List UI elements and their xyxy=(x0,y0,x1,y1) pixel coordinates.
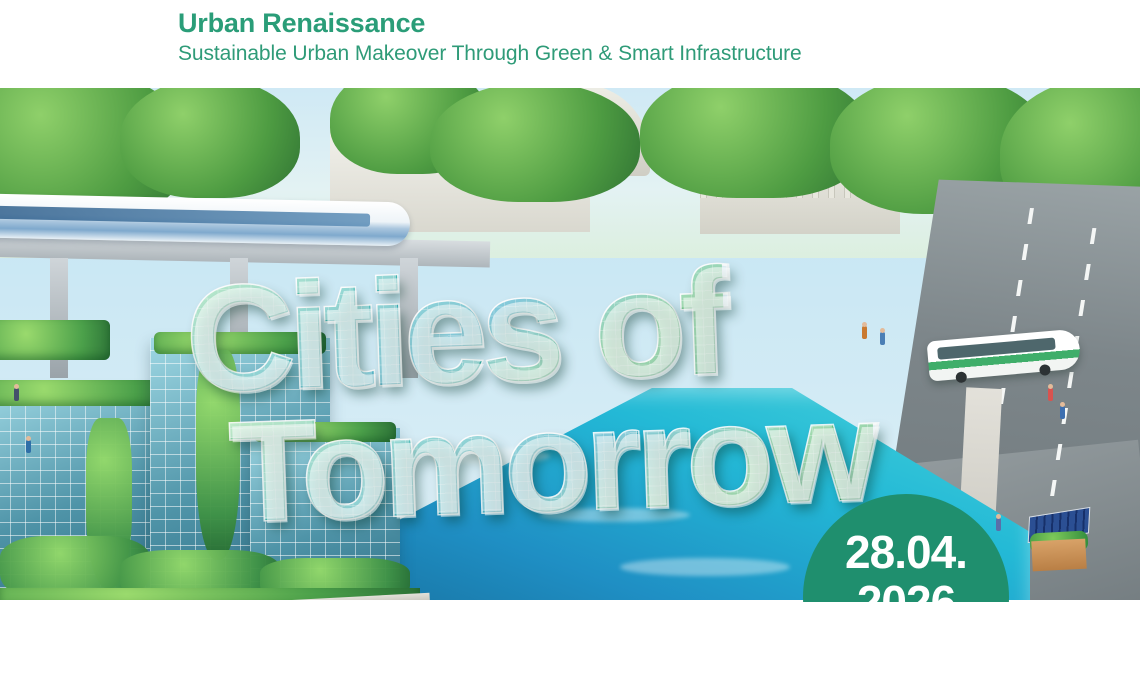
page-subtitle: Sustainable Urban Makeover Through Green… xyxy=(178,40,802,68)
hero-illustration: Cities of Cities of Tomorrow Tomorrow 28… xyxy=(0,88,1140,602)
poster-page: Urban Renaissance Sustainable Urban Make… xyxy=(0,0,1140,694)
date-year: 2026 xyxy=(857,577,955,602)
pedestrian xyxy=(862,326,867,339)
cargo-trike xyxy=(1031,539,1086,572)
header-band: Urban Renaissance Sustainable Urban Make… xyxy=(0,0,1140,88)
water-reflection xyxy=(430,448,550,464)
tree-cluster xyxy=(430,88,640,202)
cyclist xyxy=(14,388,19,401)
pedestrian xyxy=(1060,406,1065,419)
water-reflection xyxy=(540,508,690,522)
viaduct-pier xyxy=(400,258,418,378)
page-title: Urban Renaissance xyxy=(178,6,802,40)
monorail-train xyxy=(0,194,410,247)
roof-garden xyxy=(254,422,396,442)
date-day: 28.04. xyxy=(845,527,967,577)
pedestrian xyxy=(996,518,1001,531)
vertical-garden xyxy=(196,350,240,560)
pedestrian xyxy=(880,332,885,345)
cyclist xyxy=(26,440,31,453)
water-reflection xyxy=(620,558,790,576)
tree-cluster xyxy=(120,88,300,198)
header-text-block: Urban Renaissance Sustainable Urban Make… xyxy=(178,6,802,68)
roof-garden xyxy=(154,332,326,354)
park-lawn xyxy=(0,320,110,360)
pedestrian xyxy=(1048,388,1053,401)
footer-band: Event organized by: AHK Deutsch-Rumänisc… xyxy=(0,602,1140,694)
viaduct-pier xyxy=(50,258,68,378)
